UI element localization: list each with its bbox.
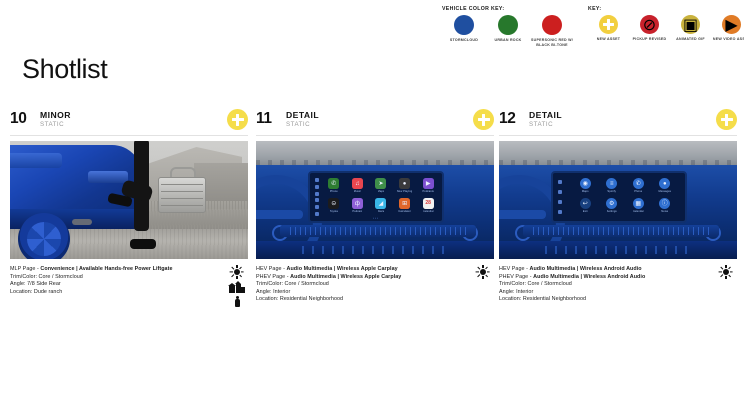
app-icon: ф (352, 198, 363, 209)
shot-card-12[interactable]: 12 DETAIL STATIC ◉Maps≡Spotify✆Phone●Mes… (499, 108, 737, 304)
app-icon: 28 (423, 198, 434, 209)
app-label: Maps (582, 190, 589, 193)
asset-key-animated-gif: ▣ ANIMATED GIF (670, 15, 711, 42)
new-asset-badge-10[interactable] (227, 109, 248, 130)
app-tile[interactable]: ⓘNews (653, 196, 678, 215)
asset-key-label-new-asset: NEW ASSET (588, 37, 629, 42)
app-label: Maps (378, 190, 385, 193)
shot-card-11[interactable]: 11 DETAIL STATIC ✆Phone♫Music➤Maps●Now P… (256, 108, 494, 304)
app-icon: ↩ (580, 198, 591, 209)
caption-line: Location: Residential Neighborhood (256, 296, 464, 304)
caption-line: HEV Page - Audio Multimedia | Wireless A… (256, 266, 464, 274)
color-swatch-urban-rock: URBAN ROCK (486, 15, 530, 47)
app-tile[interactable]: ➤Maps (370, 176, 392, 195)
shot-card-header-12: 12 DETAIL STATIC (499, 108, 737, 135)
key-legends: VEHICLE COLOR KEY: STORMCLOUD URBAN ROCK… (0, 4, 744, 62)
app-label: News (661, 210, 668, 213)
app-tile[interactable]: ≡Spotify (600, 176, 625, 195)
app-icon: ♫ (352, 178, 363, 189)
app-icon: ≡ (606, 178, 617, 189)
shot-number-11: 11 (256, 110, 272, 128)
shot-photo-10 (10, 141, 248, 259)
new-asset-badge-12[interactable] (716, 109, 737, 130)
app-label: Podcasts (422, 190, 433, 193)
asset-key-title: KEY: (588, 6, 744, 12)
shot-type-11: DETAIL (286, 111, 319, 120)
shotlist-page: VEHICLE COLOR KEY: STORMCLOUD URBAN ROCK… (0, 0, 744, 400)
shot-number-12: 12 (499, 110, 515, 128)
app-icon: ⚙ (606, 198, 617, 209)
shot-motion-10: STATIC (40, 121, 71, 129)
asset-key-new-video-asset: ▶ NEW VIDEO ASSET (711, 15, 744, 42)
app-tile[interactable]: ▶Podcasts (417, 176, 439, 195)
sun-icon (719, 265, 733, 279)
shot-card-header-10: 10 MINOR STATIC (10, 108, 248, 135)
shot-type-12: DETAIL (529, 111, 562, 120)
shot-card-header-11: 11 DETAIL STATIC (256, 108, 494, 135)
app-tile[interactable]: ✆Phone (626, 176, 651, 195)
app-tile[interactable]: ♫Music (347, 176, 369, 195)
app-tile[interactable]: ⊞Calculator (394, 196, 416, 215)
sun-icon (476, 265, 490, 279)
app-icon: ▦ (633, 198, 644, 209)
caption-line: Location: Dude ranch (10, 289, 218, 297)
new-asset-badge-11[interactable] (473, 109, 494, 130)
animated-gif-icon: ▣ (681, 15, 700, 34)
app-tile[interactable]: ⊝Toyota (323, 196, 345, 215)
app-icon: ◉ (580, 178, 591, 189)
caption-line: Location: Residential Neighborhood (499, 296, 707, 304)
caption-line: Angle: Interior (256, 289, 464, 297)
app-label: Settings (607, 210, 617, 213)
app-tile[interactable]: ↩Exit (573, 196, 598, 215)
asset-key-label-pickup-revised: PICKUP REVISED (629, 37, 670, 42)
divider-11 (256, 135, 494, 136)
caption-line: Trim/Color: Core / Stormcloud (499, 281, 707, 289)
app-tile[interactable]: ●Now Playing (394, 176, 416, 195)
caption-line: MLP Page - Convenience | Available Hands… (10, 266, 218, 274)
suv-wheel (18, 213, 70, 259)
app-label: Spotify (607, 190, 616, 193)
app-tile[interactable]: фPodcast (347, 196, 369, 215)
caption-line: PHEV Page - Audio Multimedia | Wireless … (499, 274, 707, 282)
app-icon: ◢ (375, 198, 386, 209)
color-label-supersonic-red: SUPERSONIC RED W/ BLACK BI-TONE (530, 38, 574, 47)
app-label: Music (354, 190, 361, 193)
app-tile[interactable]: 28Calendar (417, 196, 439, 215)
caption-line: Trim/Color: Core / Stormcloud (256, 281, 464, 289)
shot-type-10: MINOR (40, 111, 71, 120)
caption-line: HEV Page - Audio Multimedia | Wireless A… (499, 266, 707, 274)
shot-titles-10: MINOR STATIC (40, 111, 71, 129)
shot-motion-11: STATIC (286, 121, 319, 129)
caption-line: PHEV Page - Audio Multimedia | Wireless … (256, 274, 464, 282)
person-icon (234, 296, 241, 307)
divider-10 (10, 135, 248, 136)
shot-photo-12: ◉Maps≡Spotify✆Phone●Messages↩Exit⚙Settin… (499, 141, 737, 259)
shot-card-10[interactable]: 10 MINOR STATIC (10, 108, 248, 296)
app-icon: ⊝ (328, 198, 339, 209)
android-auto-app-grid: ◉Maps≡Spotify✆Phone●Messages↩Exit⚙Settin… (573, 176, 677, 215)
app-tile[interactable]: ✆Phone (323, 176, 345, 195)
app-label: Phone (330, 190, 338, 193)
shot-photo-11: ✆Phone♫Music➤Maps●Now Playing▶Podcasts⊝T… (256, 141, 494, 259)
caption-line: Angle: 7/8 Side Rear (10, 281, 218, 289)
app-icon: ✆ (633, 178, 644, 189)
new-video-asset-icon: ▶ (722, 15, 741, 34)
caption-line: Angle: Interior (499, 289, 707, 297)
asset-key: KEY: NEW ASSET ⊘ PICKUP REVISED ▣ ANIMAT… (588, 6, 744, 42)
app-label: Messages (658, 190, 671, 193)
shot-caption-10: MLP Page - Convenience | Available Hands… (10, 266, 248, 296)
caption-icons-12 (713, 265, 739, 279)
caption-icons-11 (470, 265, 496, 279)
app-label: Waze (378, 210, 385, 213)
plus-icon (599, 15, 618, 34)
app-icon: ⊞ (399, 198, 410, 209)
color-dot-stormcloud (454, 15, 474, 35)
app-label: Calendar (633, 210, 644, 213)
shot-motion-12: STATIC (529, 121, 562, 129)
color-label-urban-rock: URBAN ROCK (486, 38, 530, 43)
color-label-stormcloud: STORMCLOUD (442, 38, 486, 43)
shot-caption-12: HEV Page - Audio Multimedia | Wireless A… (499, 266, 737, 304)
pickup-revised-icon: ⊘ (640, 15, 659, 34)
carplay-app-grid: ✆Phone♫Music➤Maps●Now Playing▶Podcasts⊝T… (323, 176, 439, 215)
divider-12 (499, 135, 737, 136)
asset-key-items: NEW ASSET ⊘ PICKUP REVISED ▣ ANIMATED GI… (588, 15, 744, 42)
app-icon: ✆ (328, 178, 339, 189)
app-label: Toyota (330, 210, 338, 213)
app-label: Now Playing (397, 190, 413, 193)
vehicle-color-swatches: STORMCLOUD URBAN ROCK SUPERSONIC RED W/ … (442, 15, 574, 47)
app-tile[interactable]: ⚙Settings (600, 196, 625, 215)
infotainment-screen-carplay: ✆Phone♫Music➤Maps●Now Playing▶Podcasts⊝T… (308, 171, 444, 223)
app-icon: ▶ (423, 178, 434, 189)
app-icon: ● (399, 178, 410, 189)
asset-key-pickup-revised: ⊘ PICKUP REVISED (629, 15, 670, 42)
app-tile[interactable]: ●Messages (653, 176, 678, 195)
color-dot-supersonic-red (542, 15, 562, 35)
carry-case (158, 177, 206, 213)
app-icon: ● (659, 178, 670, 189)
color-swatch-stormcloud: STORMCLOUD (442, 15, 486, 47)
vehicle-color-key-title: VEHICLE COLOR KEY: (442, 6, 574, 12)
shot-number-10: 10 (10, 110, 26, 128)
app-tile[interactable]: ▦Calendar (626, 196, 651, 215)
infotainment-screen-android-auto: ◉Maps≡Spotify✆Phone●Messages↩Exit⚙Settin… (551, 171, 687, 223)
caption-icons-10 (224, 265, 250, 307)
houses-icon (229, 282, 245, 293)
app-label: Phone (634, 190, 642, 193)
app-label: Calculator (398, 210, 411, 213)
color-dot-urban-rock (498, 15, 518, 35)
shot-titles-11: DETAIL STATIC (286, 111, 319, 129)
app-icon: ➤ (375, 178, 386, 189)
shot-caption-11: HEV Page - Audio Multimedia | Wireless A… (256, 266, 494, 304)
color-swatch-supersonic-red: SUPERSONIC RED W/ BLACK BI-TONE (530, 15, 574, 47)
app-label: Exit (583, 210, 588, 213)
asset-key-label-animated-gif: ANIMATED GIF (670, 37, 711, 42)
app-label: Calendar (423, 210, 434, 213)
app-tile[interactable]: ◉Maps (573, 176, 598, 195)
sun-icon (230, 265, 244, 279)
asset-key-new-asset: NEW ASSET (588, 15, 629, 42)
app-icon: ⓘ (659, 198, 670, 209)
shot-titles-12: DETAIL STATIC (529, 111, 562, 129)
app-tile[interactable]: ◢Waze (370, 196, 392, 215)
vehicle-color-key: VEHICLE COLOR KEY: STORMCLOUD URBAN ROCK… (442, 6, 574, 47)
app-label: Podcast (352, 210, 362, 213)
page-title: Shotlist (22, 54, 107, 85)
asset-key-label-new-video-asset: NEW VIDEO ASSET (711, 37, 744, 42)
caption-line: Trim/Color: Core / Stormcloud (10, 274, 218, 282)
